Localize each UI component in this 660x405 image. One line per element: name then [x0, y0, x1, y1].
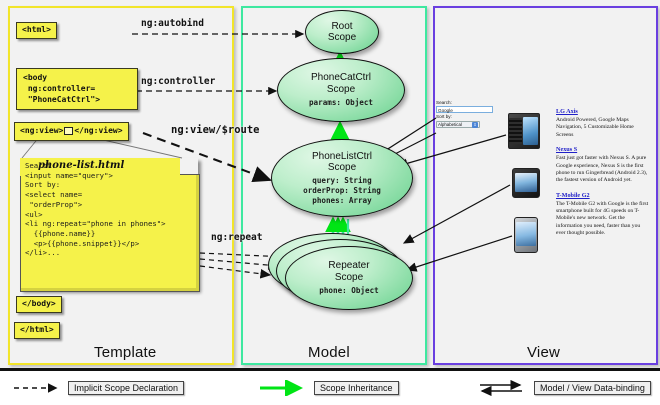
implicit-arrow-icon	[12, 380, 64, 396]
phone-snippet-0: Android Powered, Google Maps Navigation,…	[556, 117, 650, 139]
edge-label-autobind: ng:autobind	[141, 18, 204, 29]
code-tag-ngview: <ng:view></ng:view>	[14, 122, 129, 141]
scope-phonecatctrl-members: params: Object	[309, 98, 373, 108]
phone3-screen	[516, 222, 536, 246]
list-item: LG Axis Android Powered, Google Maps Nav…	[556, 108, 650, 139]
sort-by-select[interactable]: Alphabetical ⇕	[436, 121, 480, 128]
panel-template-label: Template	[94, 344, 156, 361]
scope-repeater-title-2: Scope	[335, 272, 363, 283]
ngview-open-text: <ng:view>	[20, 126, 63, 135]
diagram-canvas: Template Model View	[0, 0, 660, 405]
scope-phonecatctrl-title-1: PhoneCatCtrl	[311, 72, 371, 83]
legend-item-inheritance: Scope Inheritance	[258, 380, 399, 396]
code-tag-html-close: </html>	[14, 322, 60, 339]
list-item: Nexus S Fast just got faster with Nexus …	[556, 146, 650, 185]
scope-phonelistctrl-title-2: Scope	[328, 162, 356, 173]
scope-root-title-2: Scope	[328, 32, 356, 43]
ngview-close-text: </ng:view>	[74, 126, 122, 135]
search-input[interactable]: Google	[436, 106, 493, 113]
scope-phonelistctrl: PhoneListCtrl Scope query: String orderP…	[271, 139, 413, 217]
legend-label-inheritance: Scope Inheritance	[314, 381, 399, 395]
chevron-down-icon: ⇕	[472, 122, 478, 128]
phone1-screen	[523, 117, 538, 145]
scope-root-title-1: Root	[331, 21, 352, 32]
scope-phonelistctrl-members: query: String orderProp: String phones: …	[303, 176, 381, 206]
phone-link-2[interactable]: T-Mobile G2	[556, 192, 650, 199]
inheritance-arrow-icon	[258, 380, 310, 396]
legend-label-databinding: Model / View Data-binding	[534, 381, 651, 395]
view-phone-list: LG Axis Android Powered, Google Maps Nav…	[556, 108, 650, 245]
code-tag-body: <body ng:controller= "PhoneCatCtrl">	[16, 68, 138, 110]
sticky-note-code: Search: <input name="query"> Sort by: <s…	[25, 161, 193, 258]
legend-item-databinding: Model / View Data-binding	[478, 380, 651, 396]
scope-phonecatctrl-title-2: Scope	[327, 84, 355, 95]
legend-item-implicit: Implicit Scope Declaration	[12, 380, 184, 396]
phone-thumbnail-nexus-s	[512, 168, 540, 198]
phone-link-1[interactable]: Nexus S	[556, 146, 650, 153]
code-tag-body-close: </body>	[16, 296, 62, 313]
list-item: T-Mobile G2 The T-Mobile G2 with Google …	[556, 192, 650, 238]
code-tag-html: <html>	[16, 22, 57, 39]
panel-view-label: View	[527, 344, 560, 361]
scope-root: Root Scope	[305, 10, 379, 54]
scope-phonecatctrl: PhoneCatCtrl Scope params: Object	[277, 58, 405, 122]
scope-phonelistctrl-title-1: PhoneListCtrl	[312, 151, 372, 162]
legend-label-implicit: Implicit Scope Declaration	[68, 381, 184, 395]
legend-divider	[0, 368, 660, 371]
scope-repeater-1: Repeater Scope phone: Object	[285, 246, 413, 310]
sticky-note-phone-list: phone-list.html Search: <input name="que…	[20, 158, 198, 290]
phone2-screen	[515, 173, 537, 192]
edge-label-controller: ng:controller	[141, 76, 215, 87]
scope-repeater-members: phone: Object	[319, 286, 378, 296]
phone-link-0[interactable]: LG Axis	[556, 108, 650, 115]
edge-label-ngrepeat: ng:repeat	[211, 232, 262, 243]
phone-thumbnail-lg-axis	[508, 113, 540, 149]
legend: Implicit Scope Declaration Scope Inherit…	[0, 368, 660, 405]
phone-thumbnail-tmobile-g2	[514, 217, 538, 253]
view-search-form: Search: Google Sort by: Alphabetical ⇕	[436, 100, 496, 128]
sort-by-label: Sort by:	[436, 114, 496, 120]
phone1-keyboard	[509, 118, 522, 144]
edge-label-ngview-route: ng:view/$route	[171, 124, 260, 136]
ngview-placeholder-icon	[64, 127, 73, 135]
scope-repeater-title-1: Repeater	[328, 260, 369, 271]
sort-by-select-value: Alphabetical	[438, 122, 462, 128]
phone-snippet-1: Fast just got faster with Nexus S. A pur…	[556, 155, 650, 185]
databinding-arrow-icon	[478, 380, 530, 396]
panel-model-label: Model	[308, 344, 350, 361]
phone-snippet-2: The T-Mobile G2 with Google is the first…	[556, 201, 650, 238]
